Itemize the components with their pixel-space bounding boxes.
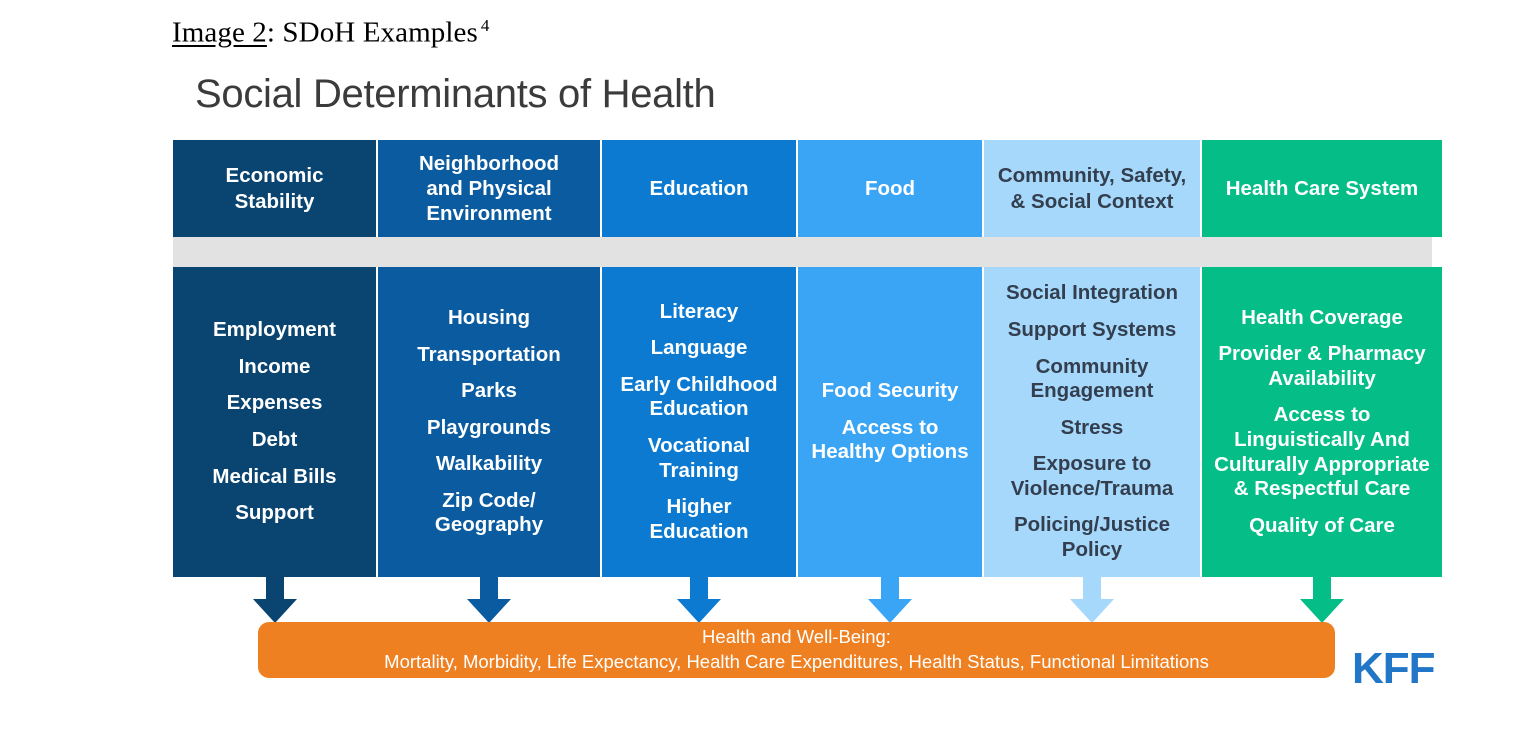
flow-arrow-3-icon <box>677 577 721 623</box>
category-item: Zip Code/ Geography <box>435 489 543 538</box>
arrow-head <box>677 599 721 623</box>
arrow-head <box>1300 599 1344 623</box>
category-header-label: Economic Stability <box>226 163 324 213</box>
flow-arrow-1-icon <box>253 577 297 623</box>
outcome-bar: Health and Well-Being: Mortality, Morbid… <box>258 622 1335 678</box>
category-header-1: Economic Stability <box>173 140 376 237</box>
category-header-2: Neighborhood and Physical Environment <box>378 140 600 237</box>
caption-rest: : SDoH Examples <box>267 17 478 49</box>
arrow-row <box>173 577 1432 625</box>
arrow-head <box>253 599 297 623</box>
category-item: Food Security <box>822 379 959 404</box>
category-item: Community Engagement <box>1030 355 1153 404</box>
category-header-4: Food <box>798 140 982 237</box>
outcome-heading: Health and Well-Being: <box>702 625 891 650</box>
kff-logo: KFF <box>1352 644 1435 694</box>
category-item: Medical Bills <box>212 465 336 490</box>
arrow-shaft <box>266 577 284 601</box>
category-body-1: EmploymentIncomeExpensesDebtMedical Bill… <box>173 267 376 577</box>
category-body-3: LiteracyLanguageEarly Childhood Educatio… <box>602 267 796 577</box>
category-body-4: Food SecurityAccess to Healthy Options <box>798 267 982 577</box>
category-item: Vocational Training <box>648 434 750 483</box>
category-body-row: EmploymentIncomeExpensesDebtMedical Bill… <box>173 267 1432 577</box>
infographic-title: Social Determinants of Health <box>195 72 715 117</box>
category-item: Income <box>239 355 311 380</box>
category-item: Policing/Justice Policy <box>1014 513 1170 562</box>
category-item: Exposure to Violence/Trauma <box>1011 452 1174 501</box>
arrow-shaft <box>690 577 708 601</box>
outcome-detail: Mortality, Morbidity, Life Expectancy, H… <box>384 650 1209 675</box>
category-item: Stress <box>1061 416 1124 441</box>
arrow-shaft <box>1313 577 1331 601</box>
flow-arrow-5-icon <box>1070 577 1114 623</box>
category-item: Language <box>651 336 748 361</box>
flow-arrow-4-icon <box>868 577 912 623</box>
category-item: Early Childhood Education <box>620 373 777 422</box>
sdoh-grid: Economic StabilityNeighborhood and Physi… <box>173 140 1432 577</box>
arrow-shaft <box>881 577 899 601</box>
arrow-shaft <box>1083 577 1101 601</box>
figure-caption: Image 2: SDoH Examples4 <box>172 16 489 50</box>
category-header-6: Health Care System <box>1202 140 1442 237</box>
category-item: Walkability <box>436 452 542 477</box>
category-header-label: Health Care System <box>1226 176 1419 201</box>
flow-arrow-6-icon <box>1300 577 1344 623</box>
category-header-label: Neighborhood and Physical Environment <box>419 151 559 227</box>
arrow-shaft <box>480 577 498 601</box>
arrow-head <box>1070 599 1114 623</box>
category-header-5: Community, Safety, & Social Context <box>984 140 1200 237</box>
sdoh-infographic: Social Determinants of Health Economic S… <box>0 60 1536 736</box>
category-item: Health Coverage <box>1241 306 1403 331</box>
category-item: Support <box>235 501 314 526</box>
category-body-6: Health CoverageProvider & Pharmacy Avail… <box>1202 267 1442 577</box>
category-header-row: Economic StabilityNeighborhood and Physi… <box>173 140 1432 237</box>
category-item: Access to Linguistically And Culturally … <box>1214 403 1430 501</box>
category-item: Expenses <box>227 391 323 416</box>
category-body-2: HousingTransportationParksPlaygroundsWal… <box>378 267 600 577</box>
category-item: Higher Education <box>649 495 748 544</box>
arrow-head <box>467 599 511 623</box>
category-item: Housing <box>448 306 530 331</box>
category-item: Parks <box>461 379 517 404</box>
category-item: Access to Healthy Options <box>811 416 968 465</box>
category-item: Support Systems <box>1008 318 1177 343</box>
category-item: Social Integration <box>1006 281 1178 306</box>
category-item: Employment <box>213 318 336 343</box>
category-body-5: Social IntegrationSupport SystemsCommuni… <box>984 267 1200 577</box>
category-item: Playgrounds <box>427 416 551 441</box>
flow-arrow-2-icon <box>467 577 511 623</box>
category-header-label: Community, Safety, & Social Context <box>998 163 1186 213</box>
category-item: Provider & Pharmacy Availability <box>1218 342 1425 391</box>
category-item: Literacy <box>660 300 739 325</box>
divider-band <box>173 237 1432 267</box>
category-header-label: Food <box>865 176 915 201</box>
category-header-3: Education <box>602 140 796 237</box>
caption-footnote-marker: 4 <box>481 16 490 35</box>
category-item: Quality of Care <box>1249 514 1395 539</box>
category-item: Debt <box>252 428 298 453</box>
arrow-head <box>868 599 912 623</box>
category-header-label: Education <box>649 176 748 201</box>
category-item: Transportation <box>417 343 561 368</box>
caption-label: Image 2 <box>172 17 267 49</box>
